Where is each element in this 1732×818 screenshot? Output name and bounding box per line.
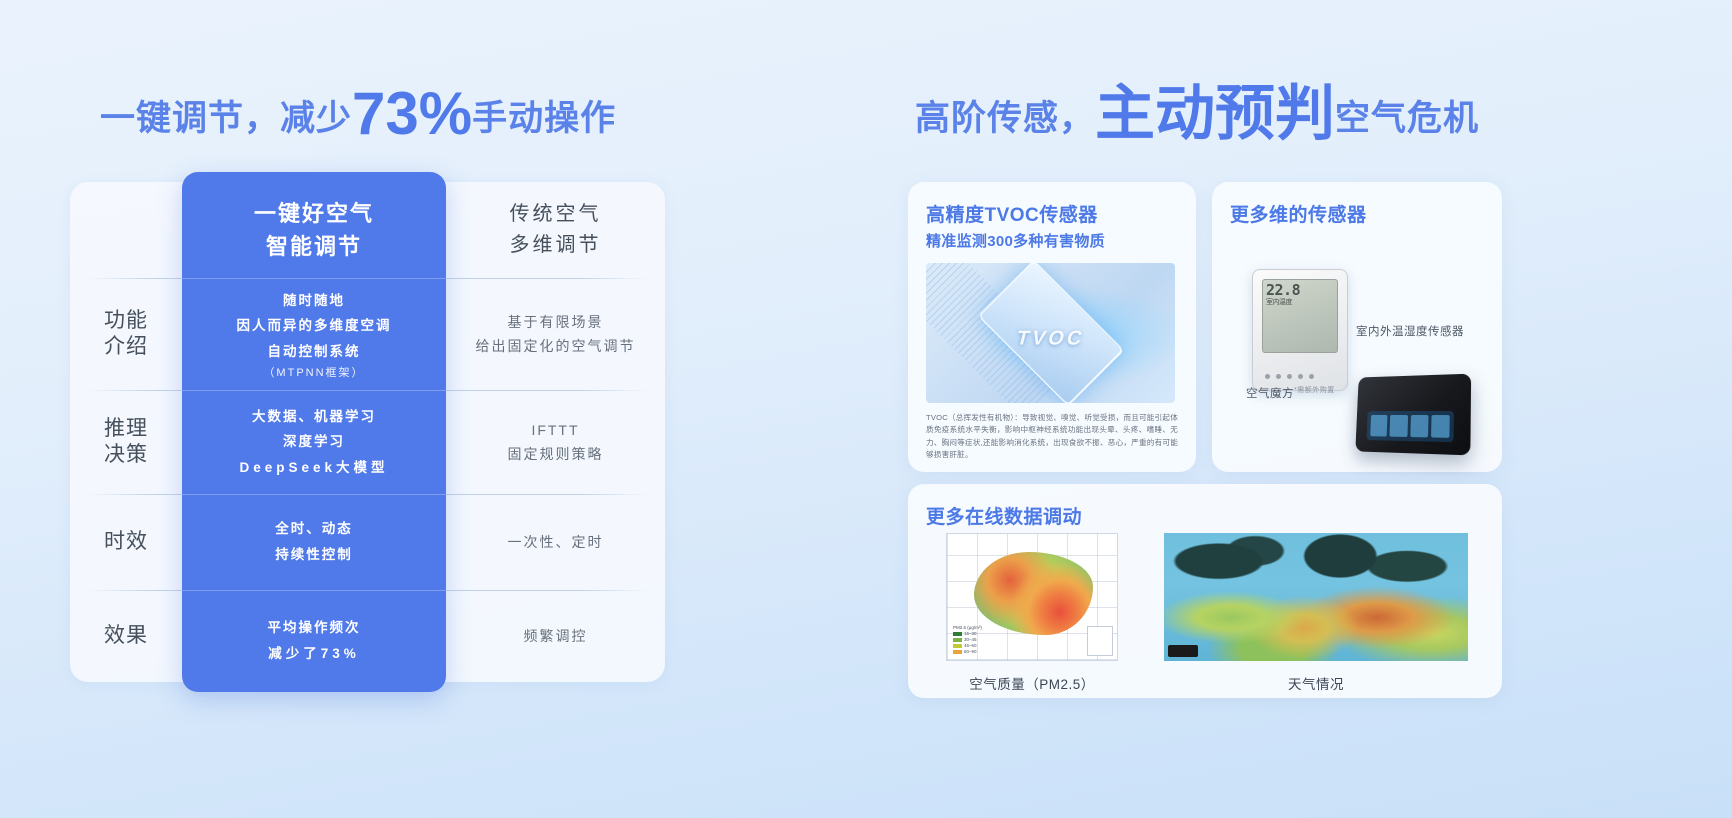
lcd-label: 室内温度 — [1266, 298, 1292, 306]
row-label-0: 功能介绍 — [70, 278, 182, 390]
row-hl-3-line1: 减少了73% — [268, 641, 361, 667]
row-hl-0-line1: 因人而异的多维度空调 — [237, 313, 392, 339]
card-sensors-title: 更多维的传感器 — [1230, 200, 1484, 227]
china-pm25-map: PM2.5 (μg/m³) 15–30 30–45 45–60 60–90 — [946, 533, 1118, 661]
label-air-cube: 空气魔方*需额外购置 — [1246, 385, 1335, 401]
row-plain-0-line1: 给出固定化的空气调节 — [476, 334, 636, 359]
thermometer-lcd: 22.8 室内温度 — [1266, 283, 1334, 349]
card-sensors-inner: 更多维的传感器 22.8 室内温度 — [1212, 182, 1502, 465]
cube-led-1 — [1370, 415, 1387, 437]
header-plain: 传统空气 多维调节 — [446, 182, 665, 278]
card-data-title: 更多在线数据调动 — [926, 502, 1484, 529]
label-air-cube-text: 空气魔方 — [1246, 388, 1294, 400]
header-plain-line2: 多维调节 — [510, 230, 602, 261]
highlight-column: 一键好空气 智能调节 随时随地 因人而异的多维度空调 自动控制系统 （MTPNN… — [182, 172, 446, 692]
headline-right-part2: 空气危机 — [1335, 99, 1479, 138]
comparison-table: 传统空气 多维调节 功能介绍 基于有限场景 给出固定化的空气调节 推理决策 — [70, 182, 665, 682]
map-legend-row-4: 60–90 — [953, 649, 982, 655]
chip-label: TVOC — [926, 327, 1175, 350]
row-plain-2-line0: 一次性、定时 — [508, 530, 604, 555]
row-plain-1: IFTTT 固定规则策略 — [446, 390, 665, 494]
card-data-inner: 更多在线数据调动 PM2.5 (μg/m³) 15–30 30–45 45–60… — [908, 484, 1502, 693]
row-hl-1-line1: 深度学习 — [239, 429, 388, 455]
tvoc-chip-image: TVOC — [926, 263, 1175, 403]
header-highlight-line1: 一键好空气 — [254, 197, 374, 230]
thermometer-button-1 — [1265, 374, 1270, 379]
row-hl-2-line0: 全时、动态 — [275, 516, 353, 542]
card-tvoc-title: 高精度TVOC传感器 — [926, 200, 1178, 227]
cube-led-3 — [1410, 415, 1428, 437]
headline-left-highlight: 73% — [352, 80, 472, 147]
row-hl-0-line2: 自动控制系统 — [237, 339, 392, 365]
caption-weather: 天气情况 — [1164, 673, 1468, 693]
air-cube-display — [1366, 411, 1454, 442]
page-root: 一键调节，减少73%手动操作 高阶传感，主动预判空气危机 传统空气 多维调节 功… — [0, 0, 1732, 818]
headline-right-highlight: 主动预判 — [1095, 80, 1335, 147]
row-hl-2-line1: 持续性控制 — [275, 542, 353, 568]
thermometer-device: 22.8 室内温度 — [1252, 269, 1348, 391]
header-highlight-line2: 智能调节 — [254, 230, 374, 263]
map-inset-southsea — [1087, 626, 1113, 656]
row-hl-1-line0: 大数据、机器学习 — [239, 404, 388, 430]
label-thermo-sensor: 室内外温湿度传感器 — [1356, 323, 1464, 339]
card-more-sensors: 更多维的传感器 22.8 室内温度 — [1212, 182, 1502, 472]
row-hl-0-line0: 随时随地 — [237, 288, 392, 314]
map-legend: PM2.5 (μg/m³) 15–30 30–45 45–60 60–90 — [953, 625, 982, 655]
thermometer-button-2 — [1276, 374, 1281, 379]
headline-left-part1: 一键调节，减少 — [100, 99, 352, 138]
card-tvoc-sensor: 高精度TVOC传感器 精准监测300多种有害物质 TVOC TVOC（总挥发性有… — [908, 182, 1196, 472]
lcd-temperature: 22.8 — [1266, 283, 1334, 299]
data-item-air-quality: PM2.5 (μg/m³) 15–30 30–45 45–60 60–90 空气… — [946, 533, 1118, 693]
highlight-header: 一键好空气 智能调节 — [182, 182, 446, 278]
card-tvoc-inner: 高精度TVOC传感器 精准监测300多种有害物质 TVOC TVOC（总挥发性有… — [908, 182, 1196, 461]
data-item-weather: 天气情况 — [1164, 533, 1468, 693]
highlight-row-0: 随时随地 因人而异的多维度空调 自动控制系统 （MTPNN框架） — [182, 278, 446, 390]
headline-left: 一键调节，减少73%手动操作 — [100, 84, 616, 144]
world-map-badge — [1168, 645, 1198, 657]
card-tvoc-subtitle: 精准监测300多种有害物质 — [926, 230, 1178, 251]
table-corner — [70, 182, 182, 278]
header-plain-line1: 传统空气 — [510, 199, 602, 230]
headline-right-part1: 高阶传感， — [915, 99, 1095, 138]
row-plain-2: 一次性、定时 — [446, 494, 665, 590]
highlight-row-2: 全时、动态 持续性控制 — [182, 494, 446, 590]
headline-right: 高阶传感，主动预判空气危机 — [915, 84, 1479, 144]
thermometer-screen: 22.8 室内温度 — [1262, 279, 1338, 353]
row-plain-0: 基于有限场景 给出固定化的空气调节 — [446, 278, 665, 390]
thermometer-button-3 — [1287, 374, 1292, 379]
headline-left-part2: 手动操作 — [472, 99, 616, 138]
row-plain-3-line0: 频繁调控 — [524, 624, 588, 649]
card-online-data: 更多在线数据调动 PM2.5 (μg/m³) 15–30 30–45 45–60… — [908, 484, 1502, 698]
highlight-row-1: 大数据、机器学习 深度学习 DeepSeek大模型 — [182, 390, 446, 494]
row-label-1: 推理决策 — [70, 390, 182, 494]
row-hl-1-line2: DeepSeek大模型 — [239, 455, 388, 481]
card-tvoc-fineprint: TVOC（总挥发性有机物）：导致视觉、嗅觉、听觉受损，而且可能引起体质免疫系统水… — [926, 412, 1178, 461]
row-plain-1-line0: IFTTT — [508, 418, 604, 443]
row-plain-1-line1: 固定规则策略 — [508, 442, 604, 467]
row-label-2: 时效 — [70, 494, 182, 590]
cube-led-4 — [1431, 415, 1450, 438]
sensor-illustration: 22.8 室内温度 室内外温湿度传感器 — [1230, 227, 1484, 465]
row-hl-3-line0: 平均操作频次 — [268, 615, 361, 641]
row-hl-0-note: （MTPNN框架） — [263, 364, 364, 380]
cube-led-2 — [1390, 415, 1408, 437]
row-label-3: 效果 — [70, 590, 182, 682]
thermometer-button-4 — [1298, 374, 1303, 379]
world-map-land — [1164, 533, 1468, 661]
row-plain-0-line0: 基于有限场景 — [476, 310, 636, 335]
thermometer-button-5 — [1309, 374, 1314, 379]
air-cube-device — [1355, 374, 1471, 456]
map-legend-title: PM2.5 (μg/m³) — [953, 625, 982, 631]
thermometer-buttons — [1265, 374, 1314, 379]
highlight-row-3: 平均操作频次 减少了73% — [182, 590, 446, 692]
label-air-cube-superscript: *需额外购置 — [1294, 387, 1335, 394]
data-image-row: PM2.5 (μg/m³) 15–30 30–45 45–60 60–90 空气… — [926, 529, 1484, 693]
world-weather-map — [1164, 533, 1468, 661]
row-plain-3: 频繁调控 — [446, 590, 665, 682]
caption-air-quality: 空气质量（PM2.5） — [946, 673, 1118, 693]
